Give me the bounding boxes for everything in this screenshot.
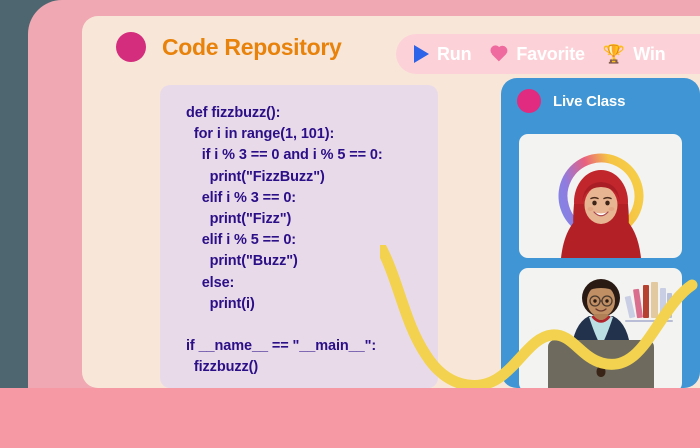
code-line: print("Fizz"): [186, 209, 438, 230]
student-video-tile[interactable]: [519, 268, 682, 388]
code-line: [186, 315, 438, 336]
live-status-dot-icon: [517, 89, 541, 113]
live-class-title: Live Class: [553, 93, 625, 110]
code-line: if i % 3 == 0 and i % 5 == 0:: [186, 145, 438, 166]
favorite-button[interactable]: Favorite: [489, 44, 584, 65]
code-line: elif i % 5 == 0:: [186, 230, 438, 251]
code-line: print("Buzz"): [186, 251, 438, 272]
teacher-avatar: [555, 162, 647, 258]
play-icon: [414, 45, 429, 63]
laptop-decoration: [548, 340, 654, 388]
page-title: Code Repository: [162, 34, 342, 61]
win-button[interactable]: 🏆 Win: [603, 44, 666, 65]
toolbar: Run Favorite 🏆 Win: [396, 34, 700, 74]
bottom-accent-band: [0, 388, 700, 448]
code-line: elif i % 3 == 0:: [186, 188, 438, 209]
teacher-video-tile[interactable]: [519, 134, 682, 258]
content-card: Code Repository Run Favorite 🏆 Win def f…: [82, 16, 700, 388]
run-button[interactable]: Run: [414, 44, 471, 65]
code-line: print(i): [186, 294, 438, 315]
favorite-button-label: Favorite: [516, 44, 584, 65]
win-button-label: Win: [633, 44, 665, 65]
trophy-icon: 🏆: [603, 45, 625, 63]
code-editor-panel[interactable]: def fizzbuzz(): for i in range(1, 101): …: [160, 85, 438, 388]
code-line: for i in range(1, 101):: [186, 124, 438, 145]
run-button-label: Run: [437, 44, 471, 65]
outer-pink-frame: Code Repository Run Favorite 🏆 Win def f…: [28, 0, 700, 448]
heart-icon: [489, 46, 508, 63]
code-line: else:: [186, 273, 438, 294]
live-class-header: Live Class: [501, 78, 700, 124]
code-line: print("FizzBuzz"): [186, 167, 438, 188]
brand-dot-icon: [116, 32, 146, 62]
code-line: def fizzbuzz():: [186, 103, 438, 124]
code-line: fizzbuzz(): [186, 357, 438, 378]
live-class-panel: Live Class: [501, 78, 700, 388]
code-line: if __name__ == "__main__":: [186, 336, 438, 357]
